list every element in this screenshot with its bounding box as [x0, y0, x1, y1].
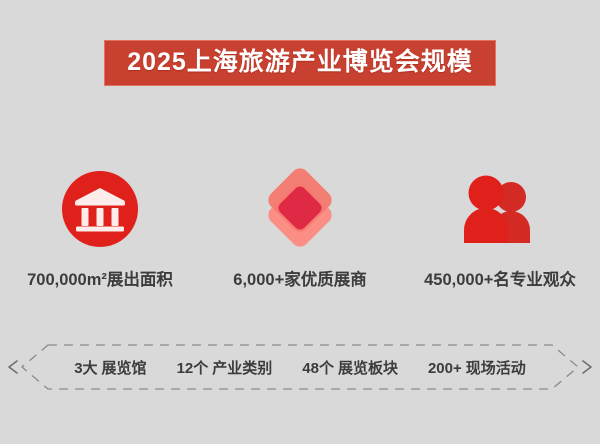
stats-row: 700,000m²展出面积 6,000+家优质展商 [0, 168, 600, 290]
title-banner-container: 2025上海旅游产业博览会规模 [0, 40, 600, 86]
users-icon [452, 168, 548, 250]
ribbon-banner: 3大展览馆 12个产业类别 48个展览板块 200+现场活动 [0, 341, 600, 393]
stat-label-exhibitors: 6,000+家优质展商 [233, 266, 366, 290]
stat-label-visitors: 450,000+名专业观众 [424, 266, 576, 290]
ribbon-items-list: 3大展览馆 12个产业类别 48个展览板块 200+现场活动 [0, 341, 600, 393]
ribbon-item-events-number: 200+ [428, 360, 462, 377]
stat-item-exhibition-area: 700,000m²展出面积 [0, 168, 200, 290]
museum-icon [59, 168, 141, 250]
ribbon-item-halls-label: 展览馆 [102, 360, 147, 377]
page-title: 2025上海旅游产业博览会规模 [127, 47, 473, 77]
ribbon-item-halls-number: 3大 [74, 360, 97, 377]
ribbon-item-categories: 12个产业类别 [177, 357, 273, 378]
ribbon-item-events: 200+现场活动 [428, 357, 526, 378]
ribbon-item-events-label: 现场活动 [466, 360, 526, 377]
ribbon-item-halls: 3大展览馆 [74, 357, 146, 378]
stat-label-exhibition-area: 700,000m²展出面积 [27, 266, 173, 290]
stat-item-exhibitors: 6,000+家优质展商 [200, 168, 400, 290]
ribbon-item-categories-number: 12个 [177, 360, 209, 377]
ribbon-item-sections-number: 48个 [302, 360, 334, 377]
ribbon-item-sections-label: 展览板块 [338, 360, 398, 377]
ribbon-item-sections: 48个展览板块 [302, 357, 398, 378]
ribbon-item-categories-label: 产业类别 [212, 360, 272, 377]
layers-icon [254, 168, 346, 250]
title-banner: 2025上海旅游产业博览会规模 [104, 40, 496, 86]
stat-item-visitors: 450,000+名专业观众 [400, 168, 600, 290]
